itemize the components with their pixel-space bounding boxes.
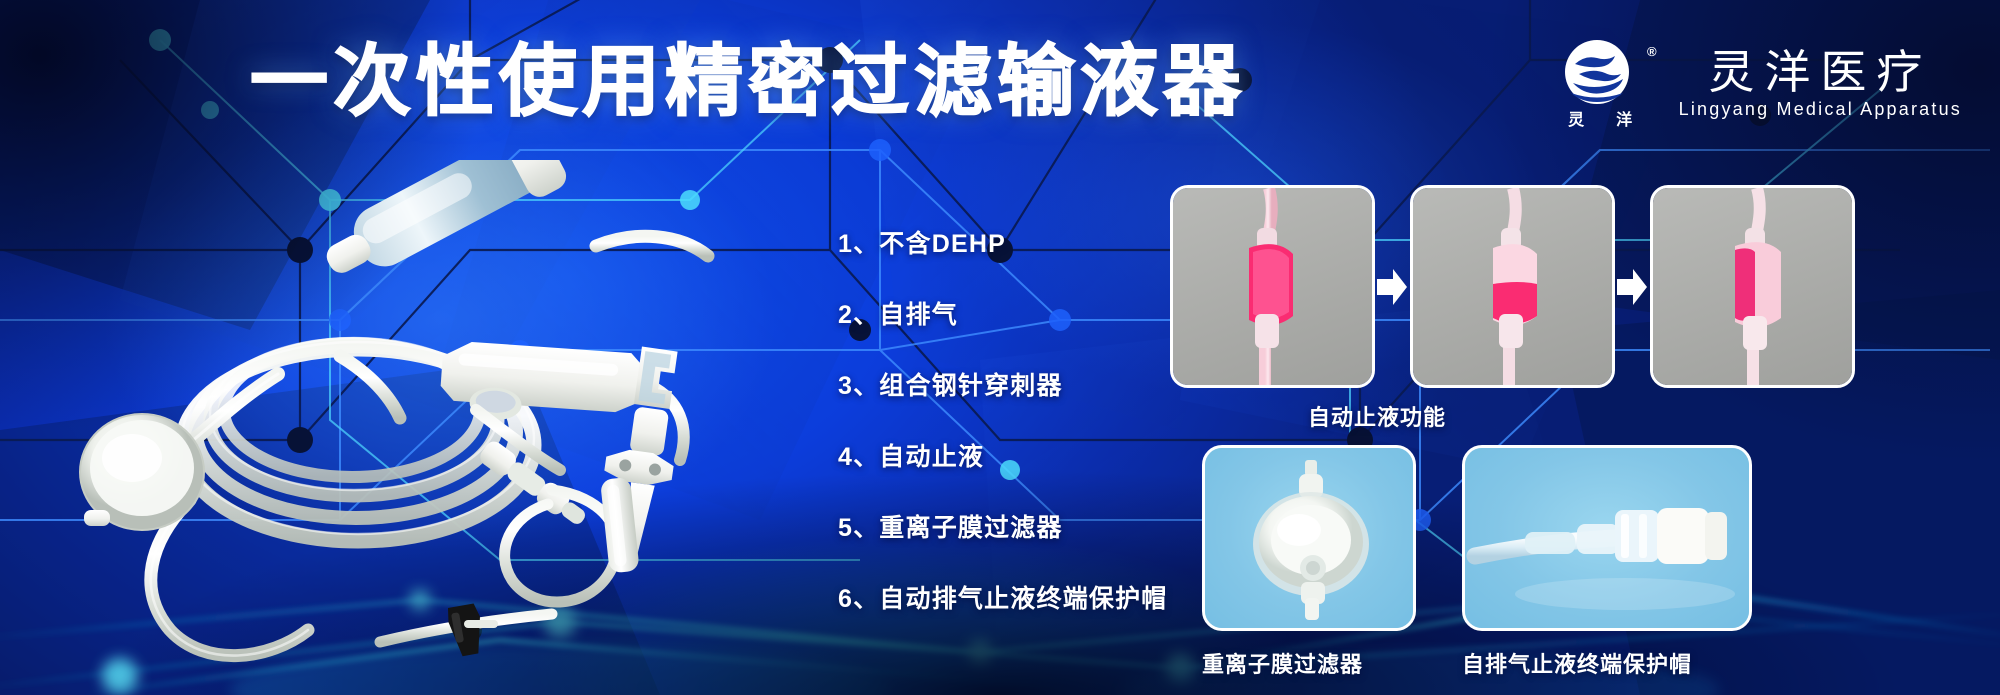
auto-stop-photo-2 bbox=[1413, 188, 1612, 385]
feature-item-1: 1、不含DEHP bbox=[838, 232, 1208, 257]
roller-clamp bbox=[439, 340, 644, 430]
filter-caption: 重离子膜过滤器 bbox=[1202, 647, 1363, 679]
product-banner: 一次性使用精密过滤输液器 ® 灵 洋 bbox=[0, 0, 2000, 695]
brand-mark-char-left: 灵 bbox=[1568, 106, 1585, 130]
end-cap-caption: 自排气止液终端保护帽 bbox=[1462, 647, 1692, 679]
feature-item-4: 4、自动止液 bbox=[838, 445, 1208, 470]
product-photo bbox=[40, 160, 830, 680]
brand-name-en: Lingyang Medical Apparatus bbox=[1679, 99, 1962, 120]
auto-stop-frame-1 bbox=[1170, 185, 1375, 388]
photo-panel-group: 自动止液功能 bbox=[1160, 175, 1970, 685]
feature-list: 1、不含DEHP 2、自排气 3、组合钢针穿刺器 4、自动止液 5、重离子膜过滤… bbox=[838, 232, 1208, 612]
feature-item-2: 2、自排气 bbox=[838, 303, 1208, 328]
wave-circle-emblem-icon: ® 灵 洋 bbox=[1553, 38, 1657, 130]
filter-panel bbox=[1202, 445, 1416, 631]
sequence-arrow-2-icon bbox=[1613, 267, 1649, 307]
sequence-arrow-1-icon bbox=[1373, 267, 1409, 307]
brand-lockup: ® 灵 洋 灵洋医疗 Lingyang Medical Apparatus bbox=[1553, 38, 1962, 130]
drip-chamber bbox=[311, 160, 624, 300]
membrane-filter-disc bbox=[80, 414, 204, 530]
feature-item-6: 6、自动排气止液终端保护帽 bbox=[838, 587, 1208, 612]
brand-mark-characters: 灵 洋 bbox=[1553, 106, 1649, 130]
filter-photo bbox=[1205, 448, 1413, 628]
feature-item-3: 3、组合钢针穿刺器 bbox=[838, 374, 1208, 399]
end-cap-photo bbox=[1465, 448, 1749, 628]
auto-stop-photo-1 bbox=[1173, 188, 1372, 385]
auto-stop-frame-3 bbox=[1650, 185, 1855, 388]
banner-header: 一次性使用精密过滤输液器 ® 灵 洋 bbox=[0, 0, 2000, 150]
butterfly-needle bbox=[380, 603, 552, 658]
auto-stop-caption: 自动止液功能 bbox=[1308, 400, 1446, 432]
page-title: 一次性使用精密过滤输液器 bbox=[250, 42, 1246, 120]
feature-item-5: 5、重离子膜过滤器 bbox=[838, 516, 1208, 541]
auto-stop-photo-3 bbox=[1653, 188, 1852, 385]
registered-trademark-icon: ® bbox=[1647, 44, 1657, 59]
end-cap-panel bbox=[1462, 445, 1752, 631]
brand-text-block: 灵洋医疗 Lingyang Medical Apparatus bbox=[1679, 49, 1962, 120]
brand-name-cn: 灵洋医疗 bbox=[1708, 49, 1932, 95]
auto-stop-frame-2 bbox=[1410, 185, 1615, 388]
brand-mark-char-right: 洋 bbox=[1616, 106, 1633, 130]
